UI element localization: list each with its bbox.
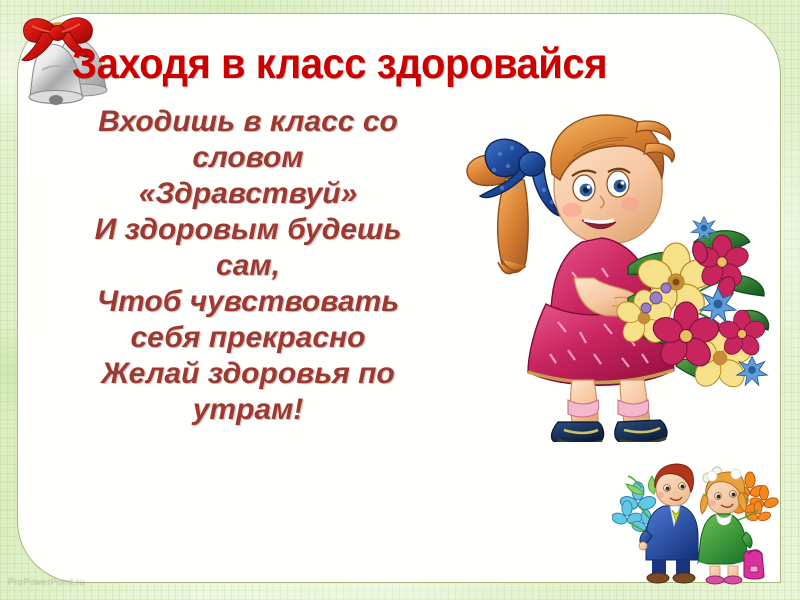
source-watermark: ProPowerPoint.ru [8,577,85,587]
verse-line: И здоровым будешь [44,212,452,248]
verse-line: себя прекрасно [44,320,452,356]
girl-with-bouquet-illustration [432,92,784,442]
presentation-slide: Заходя в класс здоровайся Входишь в клас… [0,0,800,600]
verse-text: Входишь в класс со словом «Здравствуй» И… [44,104,452,428]
verse-line: Чтоб чувствовать [44,284,452,320]
verse-line: сам, [44,248,452,284]
verse-line: Желай здоровья по [44,356,452,392]
verse-line: утрам! [44,392,452,428]
verse-line: Входишь в класс со [44,104,452,140]
slide-title: Заходя в класс здоровайся [72,40,729,88]
verse-line: словом [44,140,452,176]
children-with-flowers-illustration [612,448,790,588]
verse-line: «Здравствуй» [44,176,452,212]
